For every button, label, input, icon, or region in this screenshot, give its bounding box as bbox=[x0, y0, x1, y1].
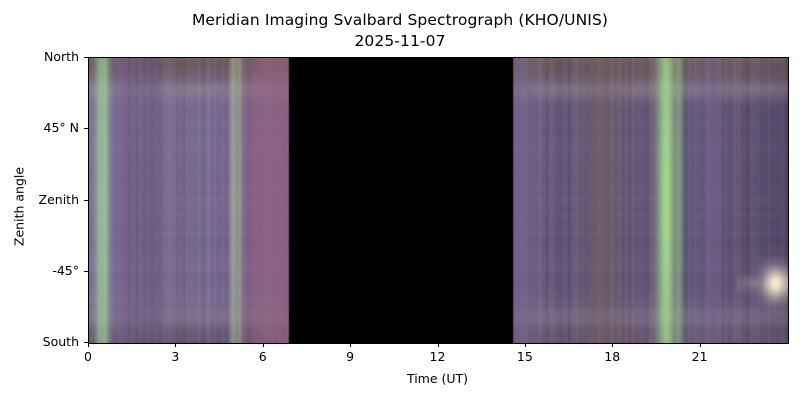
x-tick-21 bbox=[700, 343, 701, 347]
x-tick-12 bbox=[438, 343, 439, 347]
x-tick-18 bbox=[612, 343, 613, 347]
x-tick-3 bbox=[175, 343, 176, 347]
x-tick-label: 12 bbox=[408, 349, 468, 364]
title-line-1: Meridian Imaging Svalbard Spectrograph (… bbox=[0, 10, 800, 31]
x-tick-6 bbox=[263, 343, 264, 347]
y-tick-label: South bbox=[0, 334, 79, 349]
y-tick-1 bbox=[84, 128, 88, 129]
figure-title: Meridian Imaging Svalbard Spectrograph (… bbox=[0, 10, 800, 52]
y-tick-label: North bbox=[0, 49, 79, 64]
x-tick-15 bbox=[525, 343, 526, 347]
x-tick-label: 18 bbox=[582, 349, 642, 364]
x-tick-label: 3 bbox=[145, 349, 205, 364]
x-tick-label: 6 bbox=[233, 349, 293, 364]
x-tick-0 bbox=[88, 343, 89, 347]
plot-axes bbox=[88, 57, 789, 344]
y-tick-0 bbox=[84, 57, 88, 58]
keogram-figure: Meridian Imaging Svalbard Spectrograph (… bbox=[0, 0, 800, 400]
y-tick-4 bbox=[84, 342, 88, 343]
x-tick-label: 15 bbox=[495, 349, 555, 364]
x-tick-9 bbox=[350, 343, 351, 347]
title-line-2: 2025-11-07 bbox=[0, 31, 800, 52]
y-tick-3 bbox=[84, 271, 88, 272]
x-tick-label: 21 bbox=[670, 349, 730, 364]
x-tick-label: 9 bbox=[320, 349, 380, 364]
x-axis-label: Time (UT) bbox=[88, 371, 787, 386]
x-tick-label: 0 bbox=[58, 349, 118, 364]
keogram-image bbox=[89, 58, 788, 343]
y-tick-2 bbox=[84, 200, 88, 201]
keogram-canvas bbox=[89, 58, 788, 343]
y-axis-label: Zenith angle bbox=[12, 107, 27, 307]
